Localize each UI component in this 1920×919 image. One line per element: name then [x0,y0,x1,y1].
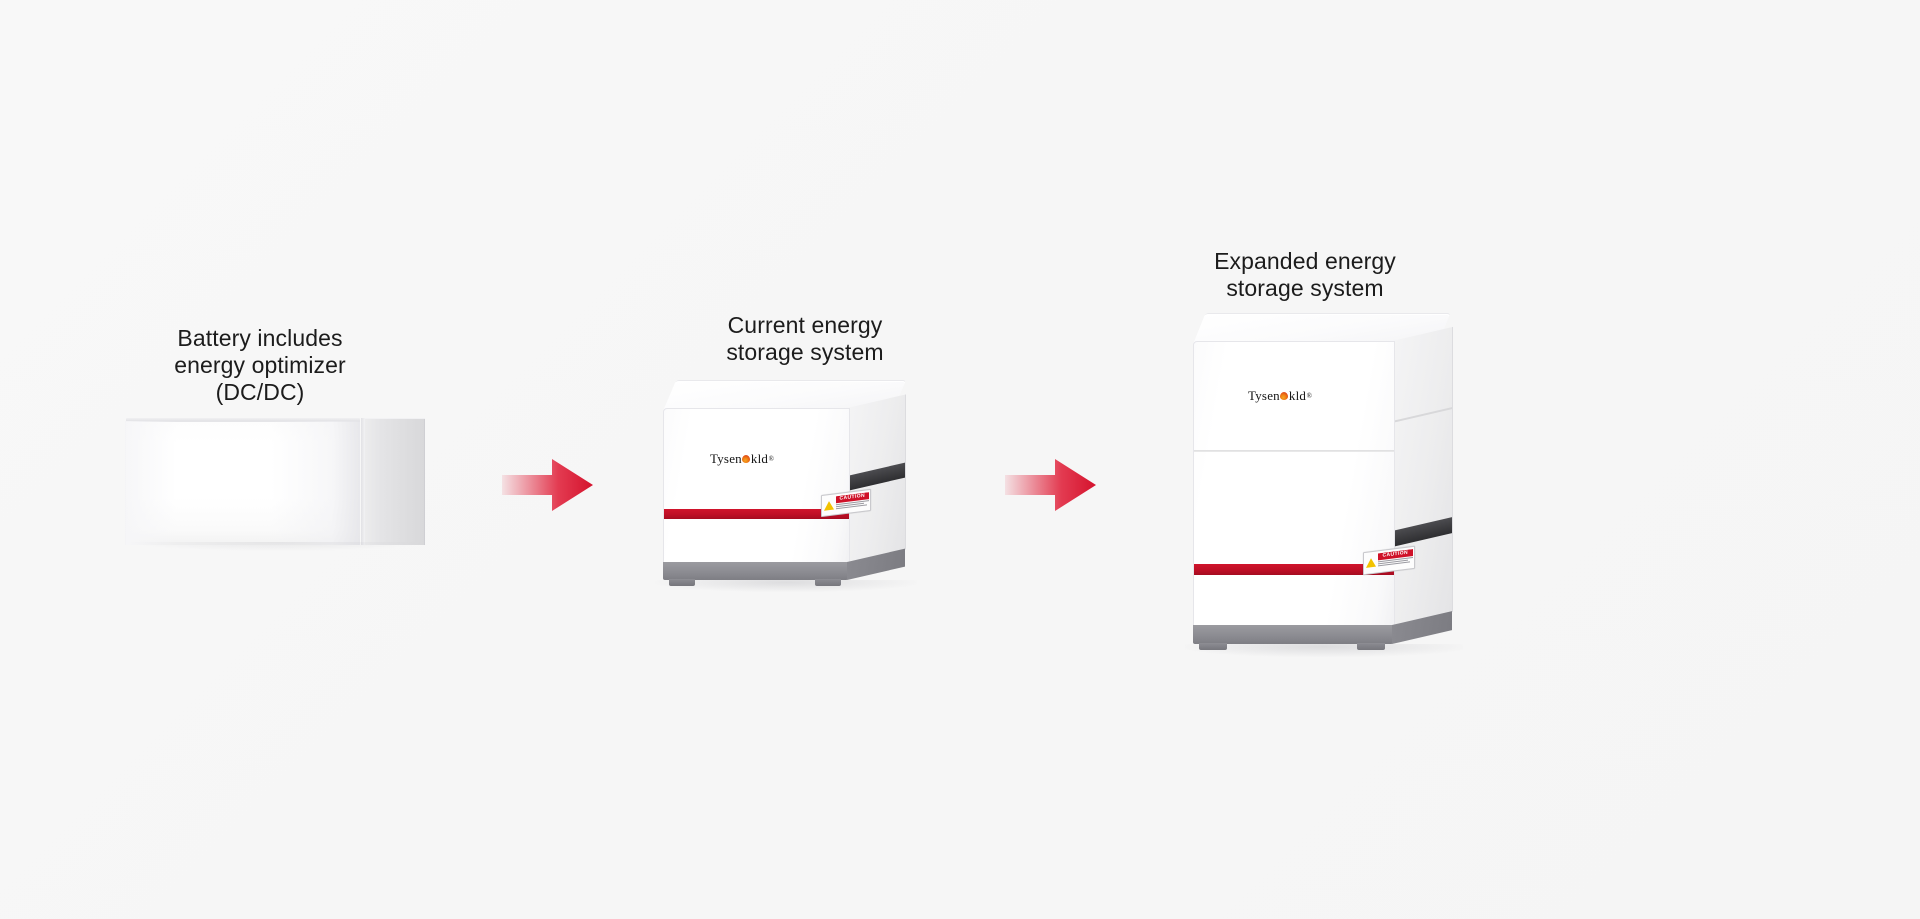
brand-logo: Tysenkld® [1248,388,1312,404]
caution-label-body: CAUTION [835,492,869,513]
arrow-1-battery-to-current [500,455,595,520]
caption-expanded-ess: Expanded energy storage system [1175,248,1435,302]
arrow-2-current-to-expanded [1003,455,1098,520]
flame-dot-icon [742,455,750,463]
cabinet-base-front [663,562,848,580]
warning-triangle-icon [1366,553,1377,572]
brand-name-part2: kld [1289,388,1306,404]
diagram-canvas: Battery includes energy optimizer (DC/DC… [0,0,1920,919]
expanded-ess-product-image: Tysenkld® CAUTION [1185,313,1475,648]
brand-logo: Tysenkld® [710,451,774,467]
brand-name-part1: Tysen [1248,388,1280,404]
right-arrow-icon [500,455,595,515]
registered-mark: ® [769,455,775,463]
warning-triangle-icon [824,496,835,514]
battery-module-product-image [125,421,425,545]
cabinet-ground-shadow [655,580,917,592]
current-ess-product-image: Tysenkld® CAUTION [655,380,940,585]
cabinet-module-seam [1194,450,1394,452]
right-arrow-icon [1003,455,1098,515]
cabinet-base-front [1193,625,1393,644]
cabinet-side-face [1392,327,1453,626]
caption-battery-module: Battery includes energy optimizer (DC/DC… [130,325,390,406]
flame-dot-icon [1280,392,1288,400]
cabinet-front-face: Tysenkld® [663,408,850,565]
cabinet-ground-shadow [1185,644,1463,657]
battery-drop-shadow [131,542,421,551]
brand-name-part2: kld [751,451,768,467]
battery-end-panel [365,418,425,545]
battery-face-sheen [125,421,360,545]
registered-mark: ® [1307,392,1313,400]
caption-current-ess: Current energy storage system [675,312,935,366]
brand-name-part1: Tysen [710,451,742,467]
cabinet-front-face: Tysenkld® [1193,341,1395,628]
caution-label-body: CAUTION [1377,549,1413,571]
